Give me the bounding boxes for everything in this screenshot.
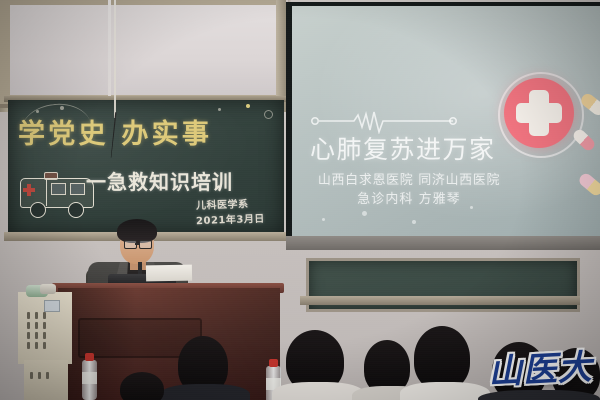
ambulance-cab	[20, 178, 47, 206]
bottle-cap	[85, 353, 94, 361]
bottle-label	[82, 372, 97, 384]
medical-cross-icon	[516, 103, 562, 123]
watermark-logo: 山医大	[487, 339, 593, 393]
speaker-glasses	[139, 240, 152, 249]
ambulance-window	[51, 183, 66, 195]
audience-head	[414, 326, 470, 390]
lecture-hall-photo: 学党史 办实事 一急救知识培训 儿科医学系 2021年3月日 心肺复苏进万	[0, 0, 600, 400]
cabinet-label	[44, 300, 60, 312]
blackboard-date: 2021年3月日	[196, 210, 265, 227]
slide-organization: 山西白求恩医院 同济山西医院	[304, 169, 514, 188]
panel-seam	[108, 0, 111, 104]
slide-speaker: 急诊内科 方雅琴	[304, 188, 514, 207]
chalk-star	[246, 104, 250, 108]
audience-head	[120, 372, 164, 400]
lecture-notes-paper	[146, 265, 192, 282]
slide-sparkle	[470, 206, 473, 209]
projection-screen-bottom-bar	[286, 236, 600, 250]
equipment-cabinet-lower	[24, 360, 68, 400]
pointer-rod	[114, 0, 116, 118]
slide-title: 心肺复苏进万家	[310, 130, 496, 166]
blackboard-subtitle: 一急救知识培训	[86, 166, 233, 195]
ambulance-window	[70, 183, 85, 195]
ambulance-chalk-drawing	[18, 170, 96, 218]
slide-sparkle	[362, 211, 367, 216]
slide-sparkle	[412, 220, 416, 224]
capsule-pill-icon	[577, 171, 600, 198]
upper-whiteboard-face	[10, 5, 278, 95]
chalk-dot	[218, 108, 221, 111]
audience-shoulders	[160, 384, 250, 400]
ambulance-cross-icon	[23, 188, 35, 192]
cabinet-top-object-white	[40, 284, 56, 294]
audience-shoulders	[400, 382, 490, 400]
ambulance-wheel	[30, 202, 46, 218]
slide-sparkle	[322, 218, 325, 221]
blackboard-title: 学党史 办实事	[18, 112, 272, 151]
speaker-glasses-bridge	[135, 243, 139, 245]
speaker-glasses	[124, 240, 137, 249]
bottle-cap	[269, 359, 278, 367]
chalk-dot	[60, 106, 64, 110]
blackboard-department: 儿科医学系	[196, 195, 249, 212]
projection-screen: 心肺复苏进万家 山西白求恩医院 同济山西医院 急诊内科 方雅琴	[292, 6, 600, 238]
lower-blackboard-tray	[300, 296, 580, 305]
capsule-pill-icon	[571, 127, 597, 152]
ambulance-wheel	[68, 202, 84, 218]
audience-shoulders	[272, 382, 364, 400]
